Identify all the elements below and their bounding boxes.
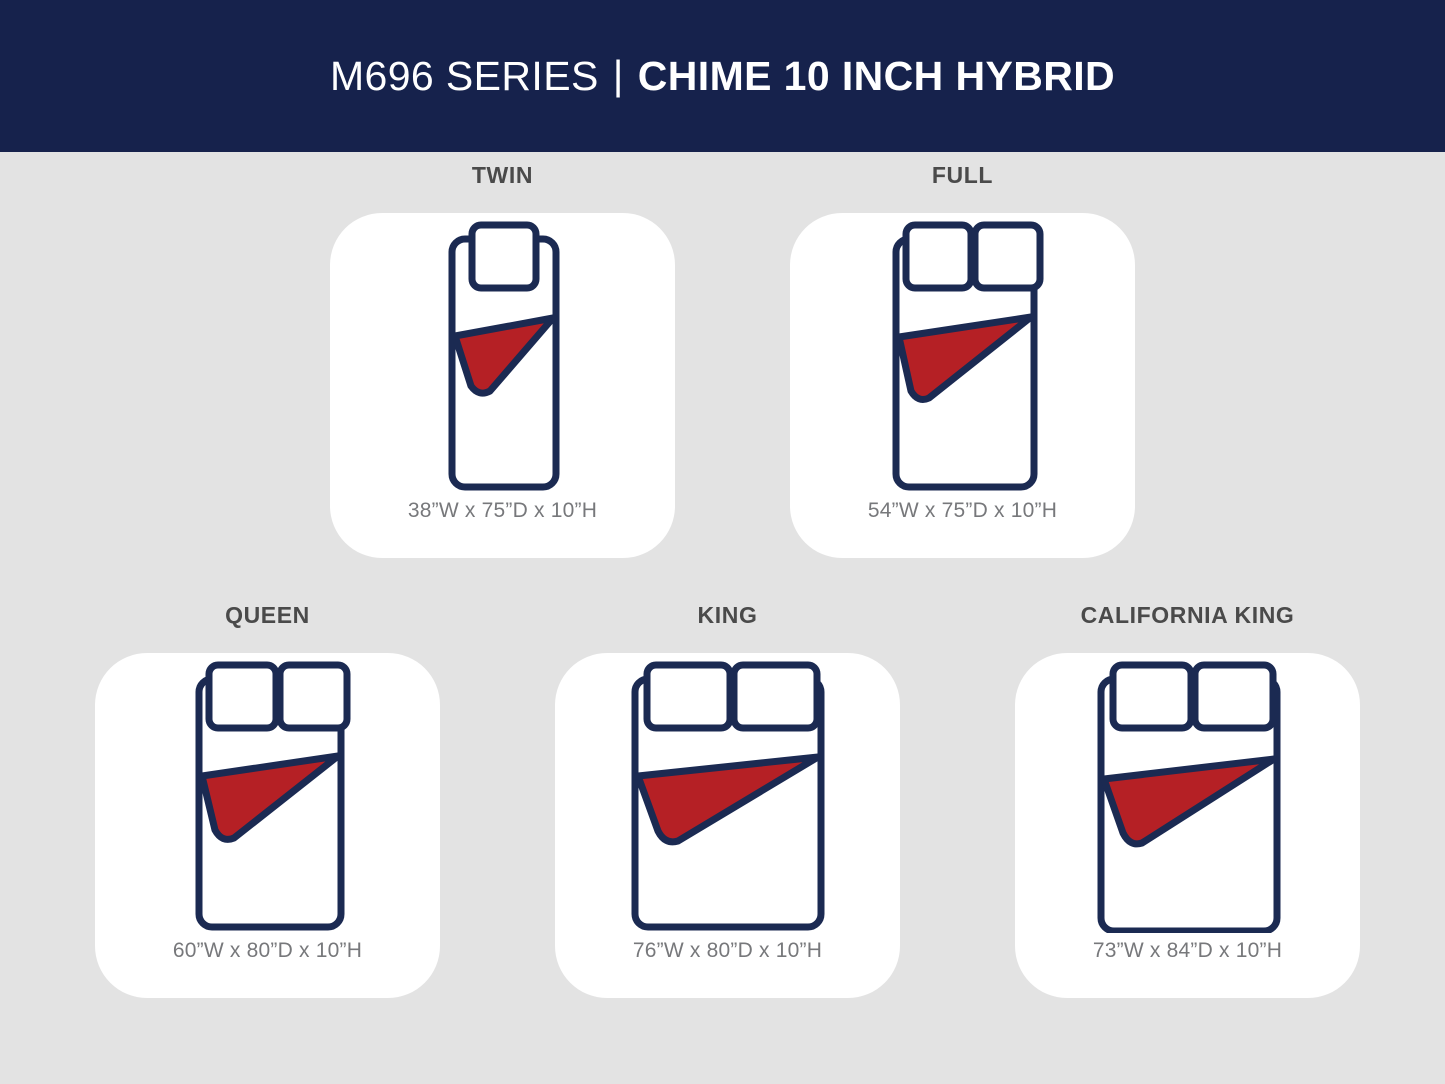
size-label-california-king: CALIFORNIA KING	[1081, 602, 1295, 629]
title-model: CHIME 10 INCH HYBRID	[638, 53, 1115, 100]
bed-full-icon	[838, 221, 1088, 493]
size-card-california-king[interactable]: 73”W x 84”D x 10”H	[1015, 653, 1360, 998]
title-separator: |	[613, 52, 624, 99]
size-label-queen: QUEEN	[225, 602, 310, 629]
bed-twin-icon	[378, 221, 628, 493]
header-banner: M696 SERIES | CHIME 10 INCH HYBRID	[0, 0, 1445, 152]
size-group-california-king[interactable]: CALIFORNIA KING 73”W x 84”D x 10”H	[1015, 602, 1360, 998]
size-dimensions-queen: 60”W x 80”D x 10”H	[173, 939, 362, 963]
size-card-queen[interactable]: 60”W x 80”D x 10”H	[95, 653, 440, 998]
bed-king-icon	[603, 661, 853, 933]
size-group-king[interactable]: KING 76”W x 80”D x 10”H	[555, 602, 900, 998]
size-label-twin: TWIN	[472, 162, 533, 189]
size-dimensions-california-king: 73”W x 84”D x 10”H	[1093, 939, 1282, 963]
bed-queen-icon	[143, 661, 393, 933]
mattress-size-grid: TWIN 38”W x 75”D x 10”H FULL 54”W x 75”D	[0, 152, 1445, 1084]
size-dimensions-king: 76”W x 80”D x 10”H	[633, 939, 822, 963]
size-card-king[interactable]: 76”W x 80”D x 10”H	[555, 653, 900, 998]
size-label-king: KING	[698, 602, 758, 629]
size-card-full[interactable]: 54”W x 75”D x 10”H	[790, 213, 1135, 558]
size-group-twin[interactable]: TWIN 38”W x 75”D x 10”H	[330, 162, 675, 558]
size-card-twin[interactable]: 38”W x 75”D x 10”H	[330, 213, 675, 558]
size-dimensions-full: 54”W x 75”D x 10”H	[868, 499, 1057, 523]
size-label-full: FULL	[932, 162, 993, 189]
size-group-full[interactable]: FULL 54”W x 75”D x 10”H	[790, 162, 1135, 558]
page-title: M696 SERIES | CHIME 10 INCH HYBRID	[330, 53, 1115, 100]
size-dimensions-twin: 38”W x 75”D x 10”H	[408, 499, 597, 523]
title-series: M696 SERIES	[330, 53, 599, 100]
size-group-queen[interactable]: QUEEN 60”W x 80”D x 10”H	[95, 602, 440, 998]
bed-california-king-icon	[1063, 661, 1313, 933]
